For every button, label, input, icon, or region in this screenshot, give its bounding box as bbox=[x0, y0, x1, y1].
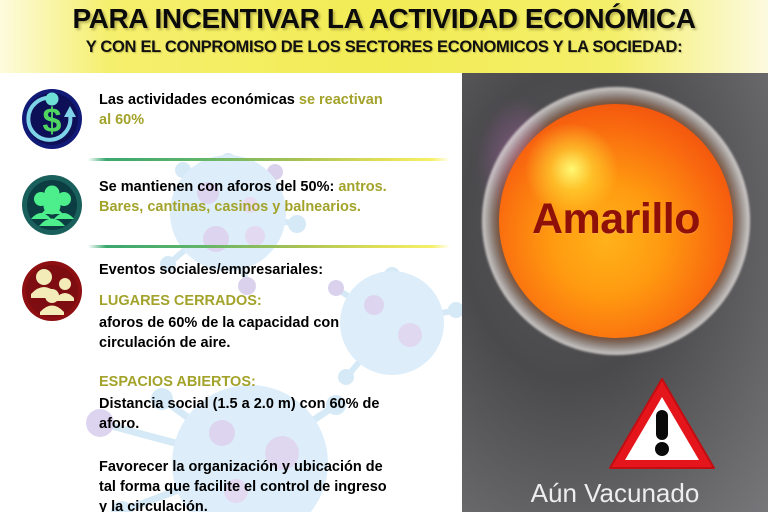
row-2-line1-highlight: antros. bbox=[338, 179, 386, 195]
row-2-text: Se mantienen con aforos del 50%: antros.… bbox=[99, 178, 449, 218]
dollar-cycle-icon: $ bbox=[21, 88, 83, 150]
row-1-line2-highlight: al 60% bbox=[99, 112, 144, 128]
family-icon bbox=[21, 260, 83, 322]
right-panel-line-2: ¡Protégete! bbox=[462, 508, 768, 512]
sub-block-1-line-2: circulación de aire. bbox=[99, 335, 230, 351]
alert-level-label: Amarillo bbox=[482, 195, 750, 244]
divider-1 bbox=[88, 158, 450, 161]
page-title: PARA INCENTIVAR LA ACTIVIDAD ECONÓMICA bbox=[0, 3, 768, 35]
page-subtitle: Y CON EL CONPROMISO DE LOS SECTORES ECON… bbox=[0, 38, 768, 57]
divider-2 bbox=[88, 245, 450, 248]
row-2-line2-highlight: Bares, cantinas, casinos y balnearios. bbox=[99, 199, 361, 215]
row-1-text: Las actividades económicas se reactivan … bbox=[99, 91, 444, 131]
row-1-line1-highlight: se reactivan bbox=[299, 92, 383, 108]
sub-block-2-label: ESPACIOS ABIERTOS: bbox=[99, 373, 449, 393]
row-3-heading: Eventos sociales/empresariales: bbox=[99, 261, 449, 281]
alert-level-sphere: Amarillo bbox=[482, 87, 750, 355]
left-content-panel: $ Las actividades económicas se reactiva… bbox=[0, 73, 462, 512]
sub-block-2-lines: Distancia social (1.5 a 2.0 m) con 60% d… bbox=[99, 395, 454, 435]
sub-block-2-line-1: Distancia social (1.5 a 2.0 m) con 60% d… bbox=[99, 396, 379, 412]
closing-line-2: tal forma que facilite el control de ing… bbox=[99, 479, 387, 495]
poster-root: PARA INCENTIVAR LA ACTIVIDAD ECONÓMICA Y… bbox=[0, 0, 768, 512]
right-panel-line-1: Aún Vacunado bbox=[462, 478, 768, 509]
closing-line-3: y la circulación. bbox=[99, 499, 208, 512]
svg-text:$: $ bbox=[43, 102, 62, 140]
right-alert-panel: Amarillo Aún Vacunado ¡Protégete! bbox=[462, 73, 768, 512]
warning-triangle-icon bbox=[607, 376, 717, 472]
sub-block-2-line-2: aforo. bbox=[99, 416, 139, 432]
group-people-icon bbox=[21, 174, 83, 236]
sub-block-1-line-1: aforos de 60% de la capacidad con bbox=[99, 315, 339, 331]
row-2-line1-plain: Se mantienen con aforos del 50%: bbox=[99, 179, 338, 195]
row-1-line1-plain: Las actividades económicas bbox=[99, 92, 299, 108]
header-banner: PARA INCENTIVAR LA ACTIVIDAD ECONÓMICA Y… bbox=[0, 0, 768, 73]
sub-block-1-lines: aforos de 60% de la capacidad con circul… bbox=[99, 314, 449, 354]
sub-block-1-label: LUGARES CERRADOS: bbox=[99, 292, 449, 312]
closing-lines: Favorecer la organización y ubicación de… bbox=[99, 458, 454, 512]
closing-line-1: Favorecer la organización y ubicación de bbox=[99, 459, 383, 475]
